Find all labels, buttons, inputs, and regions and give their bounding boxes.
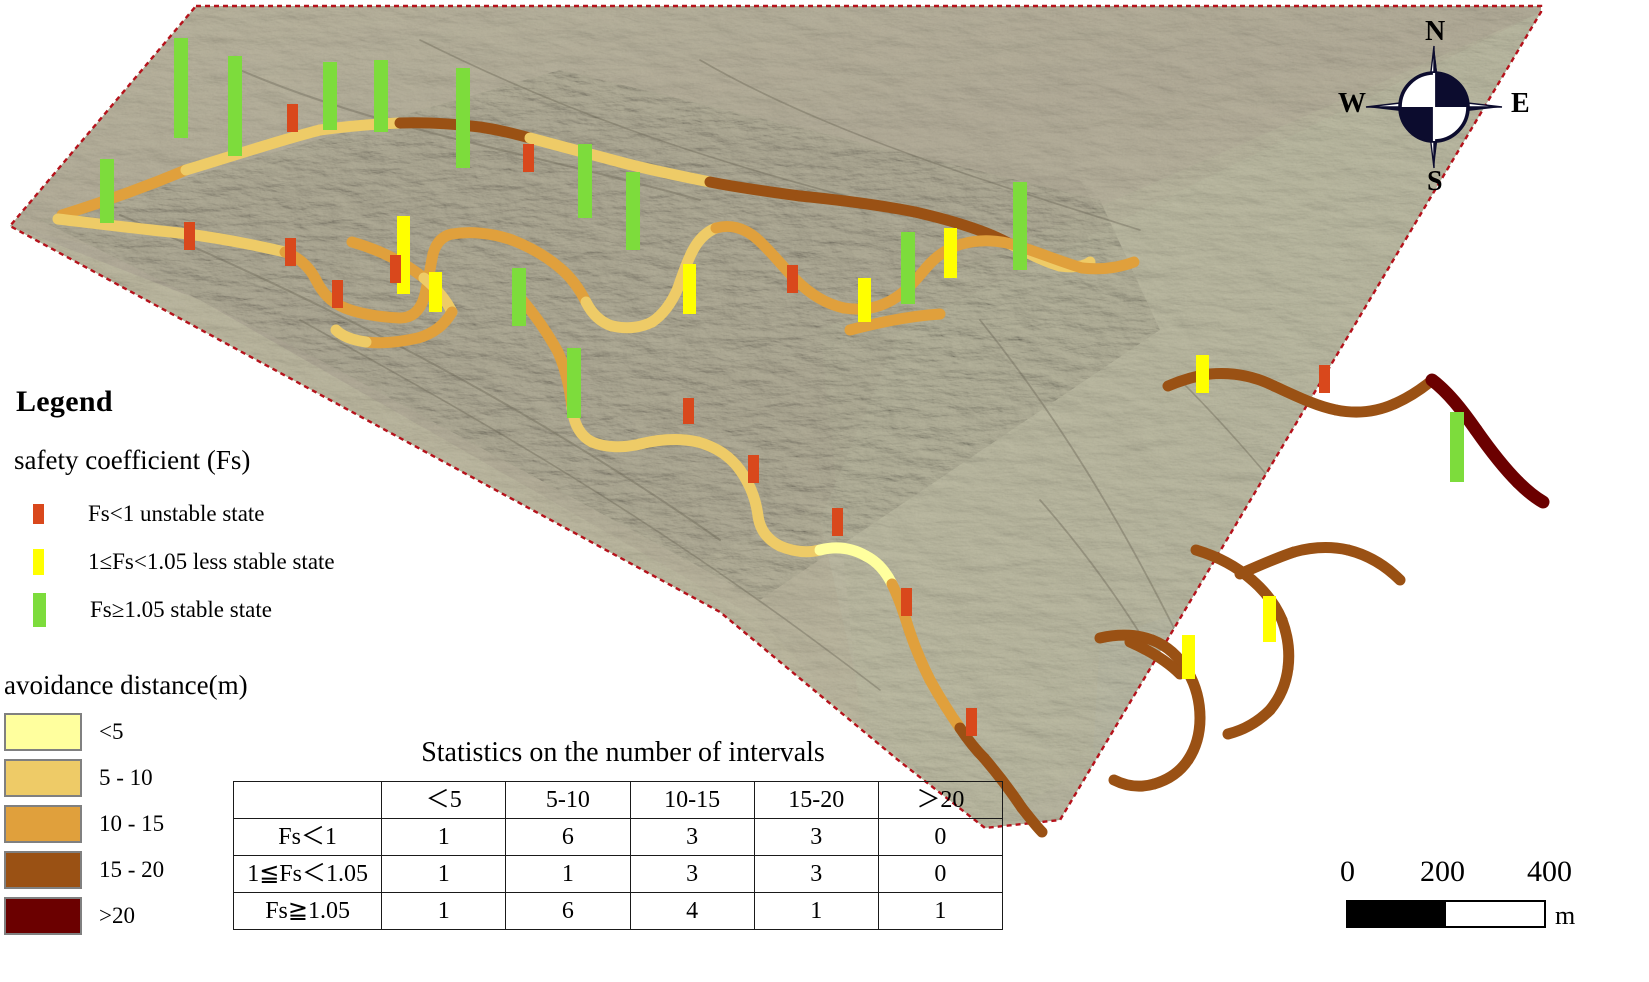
table-row-header: 1≦Fs＜1.05 xyxy=(234,856,382,893)
table-cell: 3 xyxy=(630,856,754,893)
table-col-header: 5-10 xyxy=(506,782,630,819)
fs-bar-stable xyxy=(578,144,592,218)
scale-bar-segment-filled xyxy=(1348,902,1446,926)
table-col-header: ＜5 xyxy=(382,782,506,819)
legend-item-fs-unstable: Fs<1 unstable state xyxy=(14,490,430,538)
fs-bar-less-stable xyxy=(1196,355,1209,393)
fs-bar-unstable xyxy=(523,144,534,172)
avoidance-label-gt20: >20 xyxy=(99,903,135,929)
fs-bar-unstable xyxy=(1319,365,1330,393)
table-row-header: Fs≧1.05 xyxy=(234,893,382,930)
fs-bar-unstable xyxy=(966,708,977,736)
table-cell: 3 xyxy=(630,819,754,856)
legend-label-fs-unstable: Fs<1 unstable state xyxy=(88,501,265,527)
table-row: Fs≧1.05 1 6 4 1 1 xyxy=(234,893,1003,930)
avoidance-label-5-10: 5 - 10 xyxy=(99,765,153,791)
table-row-header: Fs＜1 xyxy=(234,819,382,856)
scale-tick-0: 0 xyxy=(1340,855,1355,889)
table-cell: 1 xyxy=(382,819,506,856)
fs-bar-stable xyxy=(512,268,526,326)
fs-bar-unstable xyxy=(287,104,298,132)
scale-bar-graphic xyxy=(1346,900,1546,928)
scale-bar-unit: m xyxy=(1555,901,1575,931)
table-cell: 1 xyxy=(506,856,630,893)
scale-bar-ticks: 0 200 400 xyxy=(1340,855,1640,893)
table-col-header: 10-15 xyxy=(630,782,754,819)
legend-item-fs-less-stable: 1≤Fs<1.05 less stable state xyxy=(14,538,430,586)
fs-bar-less-stable xyxy=(858,278,871,322)
fs-bar-stable xyxy=(901,232,915,304)
fs-bar-stable xyxy=(174,38,188,138)
scale-bar-segment-empty xyxy=(1446,902,1544,926)
table-col-header: ＞20 xyxy=(878,782,1002,819)
north-arrow-compass: N S W E xyxy=(1344,18,1524,208)
fs-bar-unstable xyxy=(748,455,759,483)
legend-label-fs-stable: Fs≥1.05 stable state xyxy=(90,597,272,623)
fs-bar-less-stable xyxy=(429,272,442,312)
fs-bar-stable xyxy=(374,60,388,132)
compass-label-east: E xyxy=(1511,88,1530,120)
avoidance-swatch-5-10 xyxy=(4,759,82,797)
table-cell: 1 xyxy=(754,893,878,930)
fs-bar-unstable xyxy=(901,588,912,616)
fs-bar-stable xyxy=(228,56,242,156)
table-cell: 3 xyxy=(754,856,878,893)
fs-bar-stable xyxy=(100,159,114,223)
legend-panel: Legend safety coefficient (Fs) Fs<1 unst… xyxy=(10,385,430,634)
table-cell: 4 xyxy=(630,893,754,930)
avoidance-swatch-10-15 xyxy=(4,805,82,843)
fs-bar-less-stable xyxy=(944,228,957,278)
fs-bar-unstable xyxy=(184,222,195,250)
legend-item-fs-stable: Fs≥1.05 stable state xyxy=(14,586,430,634)
table-cell: 0 xyxy=(878,819,1002,856)
table-col-header: 15-20 xyxy=(754,782,878,819)
avoidance-swatch-lt5 xyxy=(4,713,82,751)
statistics-title: Statistics on the number of intervals xyxy=(241,737,1005,769)
fs-bar-stable xyxy=(626,172,640,250)
statistics-table: ＜5 5-10 10-15 15-20 ＞20 Fs＜1 1 6 3 3 0 1… xyxy=(233,781,1003,930)
fs-bar-unstable xyxy=(332,280,343,308)
scale-bar: 0 200 400 m xyxy=(1340,855,1640,945)
map-figure: Legend safety coefficient (Fs) Fs<1 unst… xyxy=(0,0,1649,982)
fs-bar-less-stable xyxy=(1182,635,1195,679)
table-cell: 3 xyxy=(754,819,878,856)
legend-label-fs-less-stable: 1≤Fs<1.05 less stable state xyxy=(88,549,335,575)
fs-less-stable-swatch xyxy=(33,549,44,575)
fs-bar-less-stable xyxy=(1263,596,1276,642)
compass-label-north: N xyxy=(1425,16,1445,48)
legend-title: Legend xyxy=(16,385,430,419)
fs-bar-stable xyxy=(1013,182,1027,270)
fs-bar-stable xyxy=(1450,412,1464,482)
statistics-table-panel: Statistics on the number of intervals ＜5… xyxy=(233,737,1005,930)
avoidance-swatch-15-20 xyxy=(4,851,82,889)
fs-stable-swatch xyxy=(33,593,46,627)
table-cell: 6 xyxy=(506,819,630,856)
table-row: Fs＜1 1 6 3 3 0 xyxy=(234,819,1003,856)
fs-bar-less-stable xyxy=(683,264,696,314)
fs-bar-unstable xyxy=(832,508,843,536)
compass-label-west: W xyxy=(1338,88,1366,120)
avoidance-label-15-20: 15 - 20 xyxy=(99,857,164,883)
table-cell: 1 xyxy=(382,856,506,893)
fs-bar-stable xyxy=(567,348,581,418)
fs-bar-unstable xyxy=(390,255,401,283)
table-row: 1≦Fs＜1.05 1 1 3 3 0 xyxy=(234,856,1003,893)
avoidance-label-lt5: <5 xyxy=(99,719,123,745)
fs-bar-stable xyxy=(323,62,337,130)
avoidance-label-10-15: 10 - 15 xyxy=(99,811,164,837)
scale-tick-200: 200 xyxy=(1420,855,1465,889)
fs-bar-unstable xyxy=(285,238,296,266)
fs-unstable-swatch xyxy=(33,504,44,524)
table-cell: 6 xyxy=(506,893,630,930)
table-cell: 1 xyxy=(382,893,506,930)
avoidance-swatch-gt20 xyxy=(4,897,82,935)
fs-bar-unstable xyxy=(787,265,798,293)
table-cell: 1 xyxy=(878,893,1002,930)
compass-label-south: S xyxy=(1427,166,1443,198)
avoidance-title: avoidance distance(m) xyxy=(4,670,344,701)
table-corner-cell xyxy=(234,782,382,819)
table-cell: 0 xyxy=(878,856,1002,893)
legend-safety-title: safety coefficient (Fs) xyxy=(14,445,430,476)
fs-bar-stable xyxy=(456,68,470,168)
fs-bar-unstable xyxy=(683,398,694,424)
scale-tick-400: 400 xyxy=(1527,855,1572,889)
table-header-row: ＜5 5-10 10-15 15-20 ＞20 xyxy=(234,782,1003,819)
